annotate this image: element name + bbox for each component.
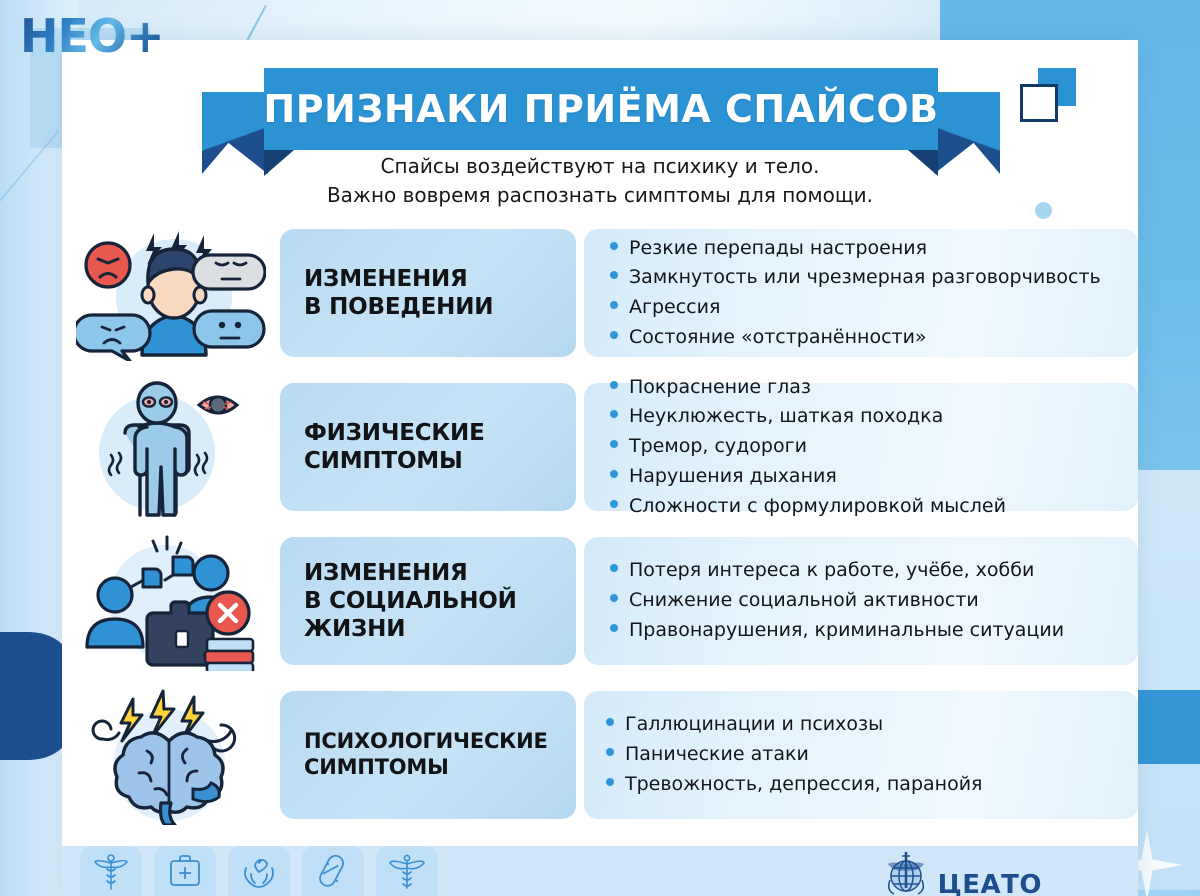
bullet-dot-icon (610, 440, 618, 448)
bullet-text: Тремор, судороги (629, 433, 807, 461)
bullet-item: Агрессия (610, 293, 1120, 323)
bullet-item: Сложности с формулировкой мыслей (610, 492, 1120, 522)
who-emblem-icon (884, 850, 928, 896)
bullet-dot-icon (606, 718, 614, 726)
pill-capsule-icon (302, 846, 364, 896)
section-title: ПСИХОЛОГИЧЕСКИЕ СИМПТОМЫ (304, 729, 548, 780)
first-aid-kit-icon (154, 846, 216, 896)
section-title-card: ФИЗИЧЕСКИЕ СИМПТОМЫ (280, 383, 576, 511)
bullet-text: Галлюцинации и психозы (625, 711, 883, 739)
section-row: ПСИХОЛОГИЧЕСКИЕ СИМПТОМЫ Галлюцинации и … (62, 684, 1138, 826)
bullet-item: Правонарушения, криминальные ситуации (610, 616, 1120, 646)
broken-social-link-briefcase-icon (62, 530, 280, 672)
section-title: ИЗМЕНЕНИЯ В ПОВЕДЕНИИ (304, 265, 493, 321)
subtitle-line-1: Спайсы воздействуют на психику и тело. (62, 152, 1138, 181)
section-bullets: Потеря интереса к работе, учёбе, хобби С… (584, 537, 1138, 665)
ribbon-band: ПРИЗНАКИ ПРИЁМА СПАЙСОВ (264, 68, 938, 150)
caduceus-wings-icon (376, 846, 438, 896)
bullet-item: Неуклюжесть, шаткая походка (610, 402, 1120, 432)
bullet-item: Тревожность, депрессия, паранойя (606, 770, 1120, 800)
bullet-item: Панические атаки (606, 740, 1120, 770)
bullet-dot-icon (606, 778, 614, 786)
section-bullets: Галлюцинации и психозы Панические атаки … (584, 691, 1138, 819)
brain-lightning-icon (62, 684, 280, 826)
bullet-item: Состояние «отстранённости» (610, 323, 1120, 353)
bullet-dot-icon (610, 271, 618, 279)
bullet-dot-icon (610, 624, 618, 632)
bullet-item: Потеря интереса к работе, учёбе, хобби (610, 556, 1120, 586)
section-row: ИЗМЕНЕНИЯ В ПОВЕДЕНИИ Резкие перепады на… (62, 222, 1138, 364)
bullet-text: Неуклюжесть, шаткая походка (629, 403, 943, 431)
sections-list: ИЗМЕНЕНИЯ В ПОВЕДЕНИИ Резкие перепады на… (62, 222, 1138, 838)
poster-card: ПРИЗНАКИ ПРИЁМА СПАЙСОВ Спайсы воздейств… (62, 40, 1138, 896)
section-row: ФИЗИЧЕСКИЕ СИМПТОМЫ Покраснение глаз Неу… (62, 376, 1138, 518)
bullet-item: Резкие перепады настроения (610, 234, 1120, 264)
background-diagonal-line-1 (0, 130, 60, 346)
footer-bar: ЦЕАТО (62, 846, 1138, 896)
section-title: ИЗМЕНЕНИЯ В СОЦИАЛЬНОЙ ЖИЗНИ (304, 559, 517, 643)
section-title-card: ИЗМЕНЕНИЯ В ПОВЕДЕНИИ (280, 229, 576, 357)
bullet-dot-icon (610, 410, 618, 418)
infographic-poster: НЕО+ ПРИЗНАКИ ПРИЁМА СПАЙСОВ Спайсы возд… (0, 0, 1200, 896)
bullet-item: Замкнутость или чрезмерная разговорчивос… (610, 263, 1120, 293)
section-title: ФИЗИЧЕСКИЕ СИМПТОМЫ (304, 419, 485, 475)
bullet-text: Агрессия (629, 294, 720, 322)
bullet-text: Сложности с формулировкой мыслей (629, 493, 1006, 521)
bullet-dot-icon (610, 564, 618, 572)
section-row: ИЗМЕНЕНИЯ В СОЦИАЛЬНОЙ ЖИЗНИ Потеря инте… (62, 530, 1138, 672)
bullet-item: Нарушения дыхания (610, 462, 1120, 492)
section-bullets: Резкие перепады настроения Замкнутость и… (584, 229, 1138, 357)
who-logo-block: ЦЕАТО (884, 850, 1042, 896)
bullet-item: Тремор, судороги (610, 432, 1120, 462)
who-logo-label: ЦЕАТО (938, 875, 1042, 896)
bullet-dot-icon (610, 331, 618, 339)
bullet-dot-icon (610, 594, 618, 602)
footer-icon-strip (80, 846, 438, 896)
bullet-dot-icon (610, 500, 618, 508)
bullet-text: Тревожность, депрессия, паранойя (625, 771, 982, 799)
decorative-square-outline (1020, 84, 1058, 122)
bullet-dot-icon (610, 381, 618, 389)
page-title: ПРИЗНАКИ ПРИЁМА СПАЙСОВ (263, 87, 938, 131)
bullet-text: Правонарушения, криминальные ситуации (629, 617, 1064, 645)
section-bullets: Покраснение глаз Неуклюжесть, шаткая пох… (584, 383, 1138, 511)
angry-person-emotions-icon (62, 222, 280, 364)
bullet-item: Снижение социальной активности (610, 586, 1120, 616)
caduceus-icon (80, 846, 142, 896)
bullet-text: Панические атаки (625, 741, 809, 769)
brand-logo-text: НЕО+ (20, 9, 164, 63)
brand-logo: НЕО+ (20, 8, 164, 64)
bullet-dot-icon (610, 470, 618, 478)
bullet-text: Резкие перепады настроения (629, 235, 927, 263)
title-ribbon: ПРИЗНАКИ ПРИЁМА СПАЙСОВ (202, 68, 1000, 150)
bullet-text: Снижение социальной активности (629, 587, 979, 615)
bullet-dot-icon (606, 748, 614, 756)
bullet-dot-icon (610, 242, 618, 250)
trembling-body-red-eyes-icon (62, 376, 280, 518)
bullet-dot-icon (610, 301, 618, 309)
heart-in-hands-icon (228, 846, 290, 896)
bullet-text: Замкнутость или чрезмерная разговорчивос… (629, 264, 1101, 292)
bullet-text: Покраснение глаз (629, 374, 811, 402)
bullet-text: Потеря интереса к работе, учёбе, хобби (629, 557, 1034, 585)
subtitle: Спайсы воздействуют на психику и тело. В… (62, 152, 1138, 210)
bullet-text: Состояние «отстранённости» (629, 324, 927, 352)
subtitle-line-2: Важно вовремя распознать симптомы для по… (62, 181, 1138, 210)
section-title-card: ИЗМЕНЕНИЯ В СОЦИАЛЬНОЙ ЖИЗНИ (280, 537, 576, 665)
section-title-card: ПСИХОЛОГИЧЕСКИЕ СИМПТОМЫ (280, 691, 576, 819)
bullet-text: Нарушения дыхания (629, 463, 837, 491)
background-left-navy-band (0, 632, 68, 760)
bullet-item: Покраснение глаз (610, 373, 1120, 403)
bullet-item: Галлюцинации и психозы (606, 710, 1120, 740)
